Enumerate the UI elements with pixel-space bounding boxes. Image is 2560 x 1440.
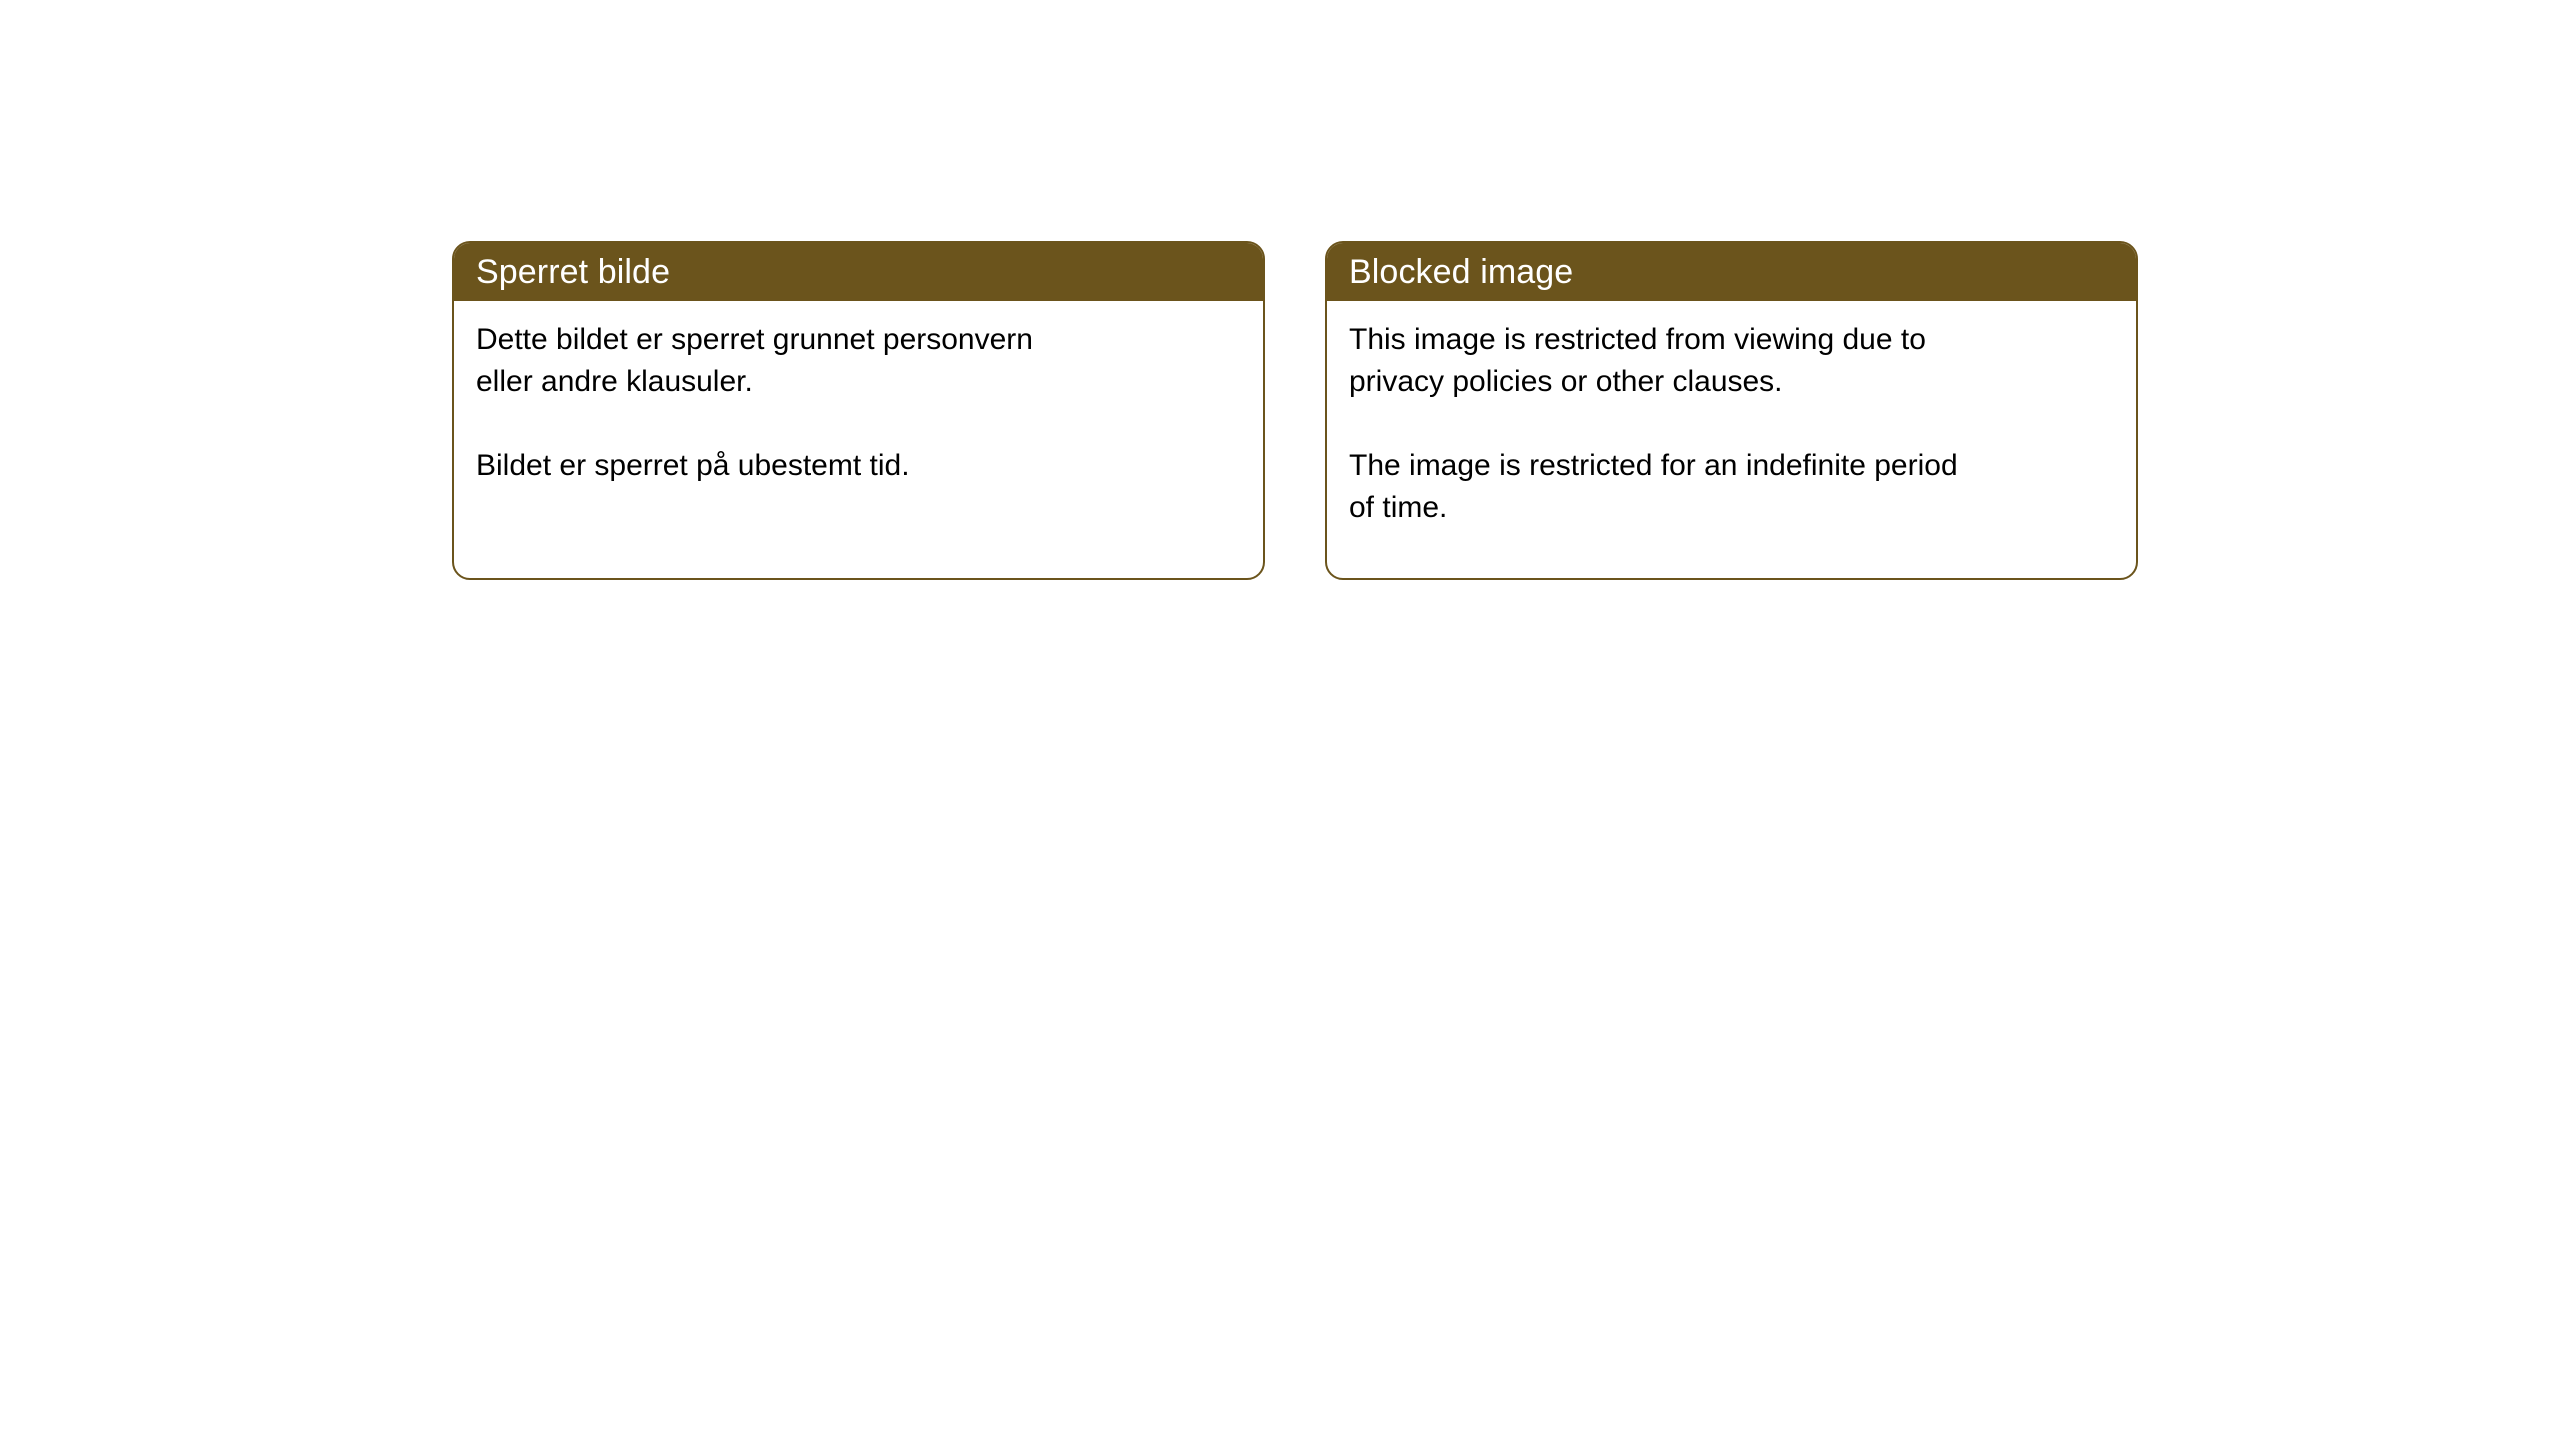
panel-title-english: Blocked image	[1349, 255, 1573, 289]
panel-paragraph-english-1: This image is restricted from viewing du…	[1349, 319, 2112, 403]
panel-paragraph-norwegian-1: Dette bildet er sperret grunnet personve…	[476, 319, 1239, 403]
blocked-image-notice-english: Blocked image This image is restricted f…	[1325, 241, 2138, 580]
panel-title-norwegian: Sperret bilde	[476, 255, 670, 289]
page-root: Sperret bilde Dette bildet er sperret gr…	[0, 0, 2560, 1440]
panel-header-english: Blocked image	[1327, 243, 2136, 301]
panel-paragraph-english-2: The image is restricted for an indefinit…	[1349, 445, 2112, 529]
panel-body-norwegian: Dette bildet er sperret grunnet personve…	[454, 301, 1263, 487]
panel-paragraph-norwegian-2: Bildet er sperret på ubestemt tid.	[476, 445, 1239, 487]
blocked-image-notice-norwegian: Sperret bilde Dette bildet er sperret gr…	[452, 241, 1265, 580]
panel-body-english: This image is restricted from viewing du…	[1327, 301, 2136, 529]
panel-header-norwegian: Sperret bilde	[454, 243, 1263, 301]
